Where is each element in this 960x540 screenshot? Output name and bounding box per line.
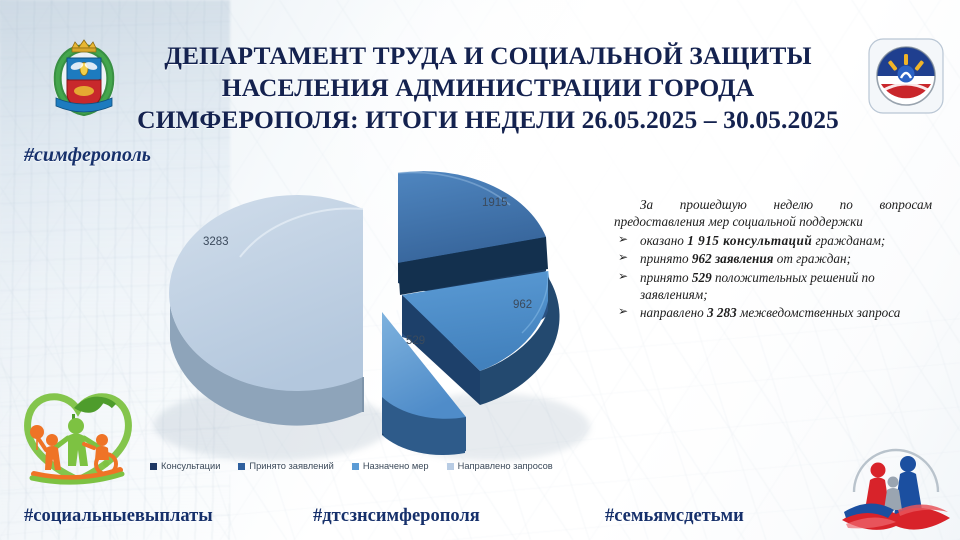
department-emblem-icon (868, 38, 944, 114)
bullet-arrow-icon: ➢ (618, 268, 628, 285)
family-support-logo-icon (14, 388, 142, 486)
summary-item-pre: оказано (640, 233, 687, 248)
legend-swatch-icon (150, 463, 157, 470)
summary-list: ➢ оказано 1 915 консультаций гражданам; … (614, 232, 932, 322)
summary-item-strong: 529 (692, 270, 712, 285)
legend-label: Принято заявлений (249, 461, 333, 471)
title-line-3: СИМФЕРОПОЛЯ: ИТОГИ НЕДЕЛИ 26.05.2025 – 3… (118, 104, 858, 136)
legend-label: Консультации (161, 461, 220, 471)
chart-legend: Консультации Принято заявлений Назначено… (150, 461, 630, 471)
hashtag-socialnyevyplaty: #социальныевыплаты (24, 506, 213, 527)
pie-label-prinyato: 962 (513, 299, 532, 311)
summary-text-block: За прошедшую неделю по вопросам предоста… (614, 196, 932, 323)
title-line-1: ДЕПАРТАМЕНТ ТРУДА И СОЦИАЛЬНОЙ ЗАЩИТЫ (118, 40, 858, 72)
legend-item-prinyato-zayavleniy[interactable]: Принято заявлений (238, 461, 333, 471)
pie-label-naznacheno: 529 (406, 335, 425, 347)
summary-item-pre: принято (640, 251, 692, 266)
legend-item-konsultacii[interactable]: Консультации (150, 461, 220, 471)
page-title: ДЕПАРТАМЕНТ ТРУДА И СОЦИАЛЬНОЙ ЗАЩИТЫ НА… (118, 40, 858, 136)
bullet-arrow-icon: ➢ (618, 249, 628, 266)
summary-item-post: гражданам; (812, 233, 885, 248)
pie-label-konsultacii: 1915 (482, 197, 508, 209)
title-line-2: НАСЕЛЕНИЯ АДМИНИСТРАЦИИ ГОРОДА (118, 72, 858, 104)
summary-item-strong: 3 283 (707, 305, 737, 320)
legend-swatch-icon (352, 463, 359, 470)
slide-canvas: ДЕПАРТАМЕНТ ТРУДА И СОЦИАЛЬНОЙ ЗАЩИТЫ НА… (0, 0, 960, 540)
hashtag-semyamsdetmi: #семьямсдетьми (605, 506, 744, 527)
summary-item: ➢ направлено 3 283 межведомственных запр… (614, 304, 932, 321)
legend-item-naznacheno-mer[interactable]: Назначено мер (352, 461, 429, 471)
summary-item-pre: принято (640, 270, 692, 285)
summary-item-post: межведомственных запроса (737, 305, 901, 320)
summary-item-strong: 962 заявления (692, 251, 774, 266)
summary-item-strong: 1 915 консультаций (687, 233, 812, 248)
summary-item: ➢ принято 962 заявления от граждан; (614, 250, 932, 267)
bullet-arrow-icon: ➢ (618, 303, 628, 320)
hashtag-simferopol: #симферополь (24, 144, 151, 167)
summary-item-pre: направлено (640, 305, 707, 320)
simferopol-coat-of-arms-icon (50, 36, 118, 120)
legend-item-napravleno-zaprosov[interactable]: Направлено запросов (447, 461, 553, 471)
pie-slice-zaprosov (150, 172, 365, 438)
summary-item: ➢ оказано 1 915 консультаций гражданам; (614, 232, 932, 249)
summary-lead: За прошедшую неделю по вопросам предоста… (614, 196, 932, 231)
summary-item-post: от граждан; (773, 251, 851, 266)
summary-item: ➢ принято 529 положительных решений по з… (614, 269, 932, 304)
legend-swatch-icon (238, 463, 245, 470)
legend-label: Направлено запросов (458, 461, 553, 471)
family-on-hands-logo-icon (838, 446, 954, 534)
bullet-arrow-icon: ➢ (618, 231, 628, 248)
legend-swatch-icon (447, 463, 454, 470)
pie-label-zaprosov: 3283 (203, 236, 229, 248)
hashtag-dtszn: #дтсзнсимферополя (313, 506, 480, 527)
legend-label: Назначено мер (363, 461, 429, 471)
pie-chart: 3283 1915 962 529 (150, 165, 620, 495)
